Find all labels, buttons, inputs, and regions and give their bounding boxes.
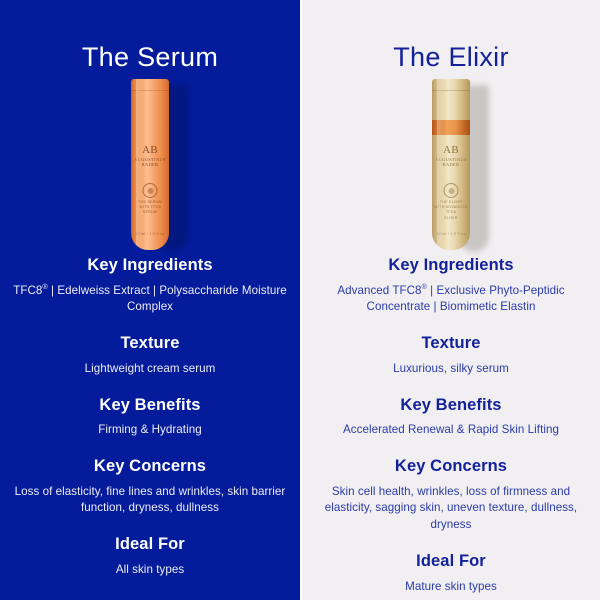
spec-block-key-ingredients: Key Ingredients Advanced TFC8® | Exclusi… (314, 255, 588, 316)
ab-monogram-icon: AB (131, 145, 169, 156)
product-panel-elixir: The Elixir AB AUGUSTINUS BADER THE ELIXI… (300, 0, 600, 600)
bottle-cap-seam (131, 90, 169, 91)
product-comparison: The Serum AB AUGUSTINUS BADER THE SERUM … (0, 0, 600, 600)
spec-value: Mature skin types (314, 579, 588, 596)
brand-name-line2: BADER (432, 163, 470, 167)
bottle-brand-logo: AB AUGUSTINUS BADER (131, 145, 169, 168)
spec-value: Firming & Hydrating (12, 422, 288, 439)
bottle-volume-text: 30 ml / 1.0 fl oz (131, 232, 169, 236)
ab-monogram-icon: AB (432, 145, 470, 156)
spec-heading: Ideal For (314, 551, 588, 572)
spec-heading: Key Benefits (12, 395, 288, 416)
product-image-elixir: AB AUGUSTINUS BADER THE ELIXIR WITH ADVA… (302, 77, 600, 255)
elixir-bottle: AB AUGUSTINUS BADER THE ELIXIR WITH ADVA… (432, 79, 470, 250)
spec-block-ideal-for: Ideal For All skin types (12, 534, 288, 578)
bottle-label-line3: SÉRUM (131, 210, 169, 215)
spec-heading: Key Concerns (12, 456, 288, 477)
spec-heading: Key Benefits (314, 395, 588, 416)
spec-value: Lightweight cream serum (12, 361, 288, 378)
spec-value: Loss of elasticity, fine lines and wrink… (12, 484, 288, 518)
bottle-brand-logo: AB AUGUSTINUS BADER (432, 145, 470, 168)
product-image-serum: AB AUGUSTINUS BADER THE SERUM WITH TFC8 … (0, 77, 300, 255)
spec-block-ideal-for: Ideal For Mature skin types (314, 551, 588, 595)
spec-list-elixir: Key Ingredients Advanced TFC8® | Exclusi… (302, 255, 600, 596)
serum-bottle: AB AUGUSTINUS BADER THE SERUM WITH TFC8 … (131, 79, 169, 250)
spec-heading: Texture (314, 333, 588, 354)
bottle-seal-icon (444, 183, 459, 198)
bottle-volume-text: 30 ml / 1.0 fl oz (432, 232, 470, 236)
spec-block-key-concerns: Key Concerns Skin cell health, wrinkles,… (314, 456, 588, 534)
spec-value: Luxurious, silky serum (314, 361, 588, 378)
panel-title-serum: The Serum (82, 0, 218, 71)
spec-heading: Key Ingredients (314, 255, 588, 276)
bottle-label-line2: WITH ADVANCED TFC8 (432, 205, 470, 215)
spec-heading: Ideal For (12, 534, 288, 555)
product-panel-serum: The Serum AB AUGUSTINUS BADER THE SERUM … (0, 0, 300, 600)
spec-list-serum: Key Ingredients TFC8® | Edelweiss Extrac… (0, 255, 300, 579)
bottle-cap-seam (432, 90, 470, 91)
spec-block-texture: Texture Luxurious, silky serum (314, 333, 588, 377)
spec-value: TFC8® | Edelweiss Extract | Polysacchari… (12, 283, 288, 317)
spec-value: All skin types (12, 562, 288, 579)
spec-value: Accelerated Renewal & Rapid Skin Lifting (314, 422, 588, 439)
bottle-label-text: THE ELIXIR WITH ADVANCED TFC8 ÉLIXIR (432, 200, 470, 221)
spec-value: Skin cell health, wrinkles, loss of firm… (314, 484, 588, 534)
spec-value: Advanced TFC8® | Exclusive Phyto-Peptidi… (314, 283, 588, 317)
bottle-label-text: THE SERUM WITH TFC8 SÉRUM (131, 200, 169, 216)
bottle-seal-icon (143, 183, 158, 198)
spec-heading: Key Concerns (314, 456, 588, 477)
panel-title-elixir: The Elixir (393, 0, 509, 71)
spec-heading: Texture (12, 333, 288, 354)
spec-block-texture: Texture Lightweight cream serum (12, 333, 288, 377)
spec-block-key-benefits: Key Benefits Accelerated Renewal & Rapid… (314, 395, 588, 439)
spec-block-key-ingredients: Key Ingredients TFC8® | Edelweiss Extrac… (12, 255, 288, 316)
spec-block-key-benefits: Key Benefits Firming & Hydrating (12, 395, 288, 439)
bottle-amber-band (432, 120, 470, 135)
brand-name-line2: BADER (131, 163, 169, 167)
spec-heading: Key Ingredients (12, 255, 288, 276)
spec-block-key-concerns: Key Concerns Loss of elasticity, fine li… (12, 456, 288, 517)
bottle-label-line3: ÉLIXIR (432, 216, 470, 221)
